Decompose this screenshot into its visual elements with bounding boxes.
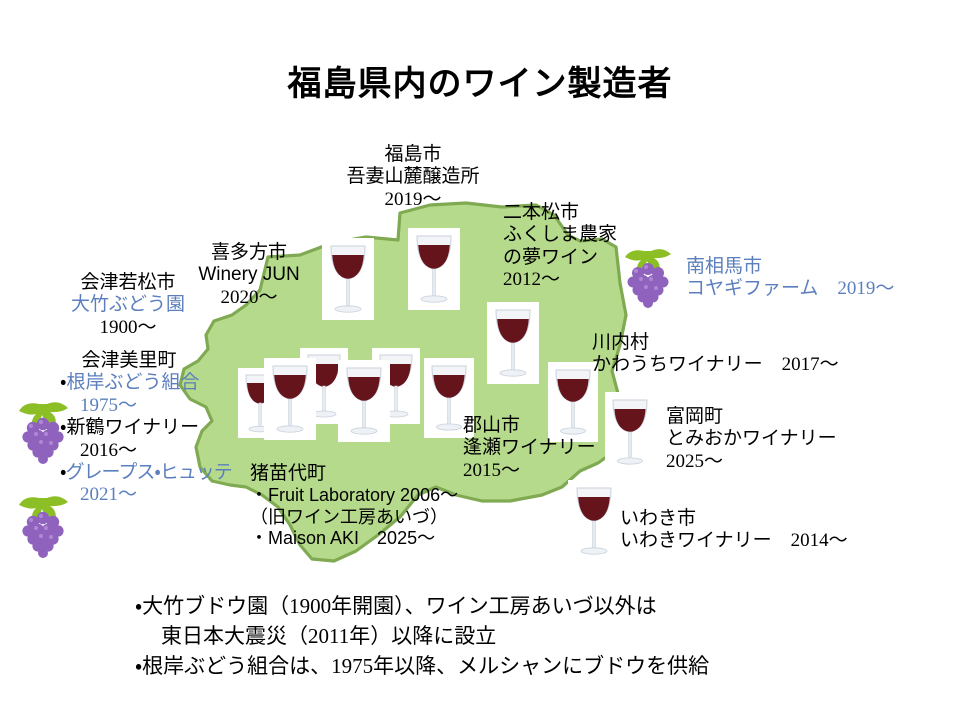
label-nihonmatsu-shi: 二本松市 ふくしま農家 の夢ワイン 2012〜 [503,202,617,292]
label-city: いわき市 [620,508,848,530]
label-city: 福島市 [318,144,508,166]
label-year: 1975〜 [60,395,232,417]
label-iwaki-shi: いわき市 いわきワイナリー 2014〜 [620,508,848,553]
label-winery: ふくしま農家 [503,224,617,246]
bullet: ・ [250,485,268,505]
slide-canvas: 福島県内のワイン製造者 [0,0,960,720]
label-city: 二本松市 [503,202,617,224]
footnote-line: ・根岸ぶどう組合は、1975年以降、メルシャンにブドウを供給 [135,652,935,682]
label-city: 富岡町 [666,406,837,428]
label-winery: Winery JUN [178,264,320,286]
winery-name: グレープス・ヒュッテ [65,462,231,483]
list-item: ・Fruit Laboratory 2006〜 [250,485,458,506]
winery-name: 根岸ぶどう組合 [66,372,199,393]
wine-glass-icon [568,480,620,562]
label-kawauchi-mura: 川内村 かわうちワイナリー 2017〜 [592,332,839,377]
label-year: 2016〜 [60,440,232,462]
wine-glass-icon [408,228,460,310]
grape-cluster-icon [620,245,676,309]
label-city: 猪苗代町 [250,463,458,485]
label-year: 2012〜 [503,269,617,291]
wine-glass-icon [605,392,655,472]
label-winery-cont: の夢ワイン [503,247,617,269]
label-city: 会津美里町 [60,350,198,372]
label-aizuwakamatsu-shi: 会津若松市 大竹ぶどう園 1900〜 [58,272,198,339]
label-winery: とみおかワイナリー [666,428,837,450]
list-item: ・新鶴ワイナリー [60,417,232,439]
winery-name: Maison AKI 2025〜 [268,528,435,548]
label-tomioka-machi: 富岡町 とみおかワイナリー 2025〜 [666,406,837,473]
footnotes: ・大竹ブドウ園（1900年開園）、ワイン工房あいづ以外は 東日本大震災（2011… [135,592,935,681]
footnote-line: ・大竹ブドウ園（1900年開園）、ワイン工房あいづ以外は [135,592,935,622]
bullet: ・ [250,528,268,548]
footnote-line: 東日本大震災（2011年）以降に設立 [135,622,935,652]
list-item: ・グレープス・ヒュッテ [60,462,232,484]
list-item: ・根岸ぶどう組合 [60,372,232,394]
list-item: （旧ワイン工房あいづ） [250,507,458,528]
label-city: 会津若松市 [58,272,198,294]
page-title: 福島県内のワイン製造者 [0,56,960,105]
wine-glass-icon [322,238,374,320]
label-winery: かわうちワイナリー 2017〜 [592,354,839,376]
label-city: 川内村 [592,332,839,354]
label-city: 南相馬市 [686,256,894,278]
wine-glass-icon [338,360,390,442]
label-minamisoma-shi: 南相馬市 コヤギファーム 2019〜 [686,256,894,301]
wine-glass-icon [487,302,539,384]
label-inawashiro-machi: 猪苗代町 ・Fruit Laboratory 2006〜 （旧ワイン工房あいづ）… [250,463,458,549]
label-city: 郡山市 [463,415,596,437]
label-year: 2020〜 [178,287,320,309]
label-koriyama-shi: 郡山市 逢瀬ワイナリー 2015〜 [463,415,596,482]
label-winery: 吾妻山麓醸造所 [318,166,508,188]
label-winery: コヤギファーム 2019〜 [686,278,894,300]
label-aizumisato-machi: 会津美里町 ・根岸ぶどう組合 1975〜 ・新鶴ワイナリー 2016〜 ・グレー… [60,350,232,507]
label-year: 2025〜 [666,451,837,473]
label-winery: いわきワイナリー 2014〜 [620,530,848,552]
label-year: 2015〜 [463,460,596,482]
winery-name: Fruit Laboratory 2006〜 [268,485,458,505]
label-year: 2019〜 [318,189,508,211]
label-year: 2021〜 [60,484,232,506]
wine-glass-icon [264,358,316,440]
label-winery: 大竹ぶどう園 [58,294,198,316]
winery-alias: （旧ワイン工房あいづ） [250,507,448,527]
list-item: ・Maison AKI 2025〜 [250,528,458,549]
label-year: 1900〜 [58,317,198,339]
label-fukushima-shi: 福島市 吾妻山麓醸造所 2019〜 [318,144,508,211]
label-city: 喜多方市 [178,242,320,264]
winery-name: 新鶴ワイナリー [66,417,199,438]
label-winery: 逢瀬ワイナリー [463,437,596,459]
label-kitakata-shi: 喜多方市 Winery JUN 2020〜 [178,242,320,309]
